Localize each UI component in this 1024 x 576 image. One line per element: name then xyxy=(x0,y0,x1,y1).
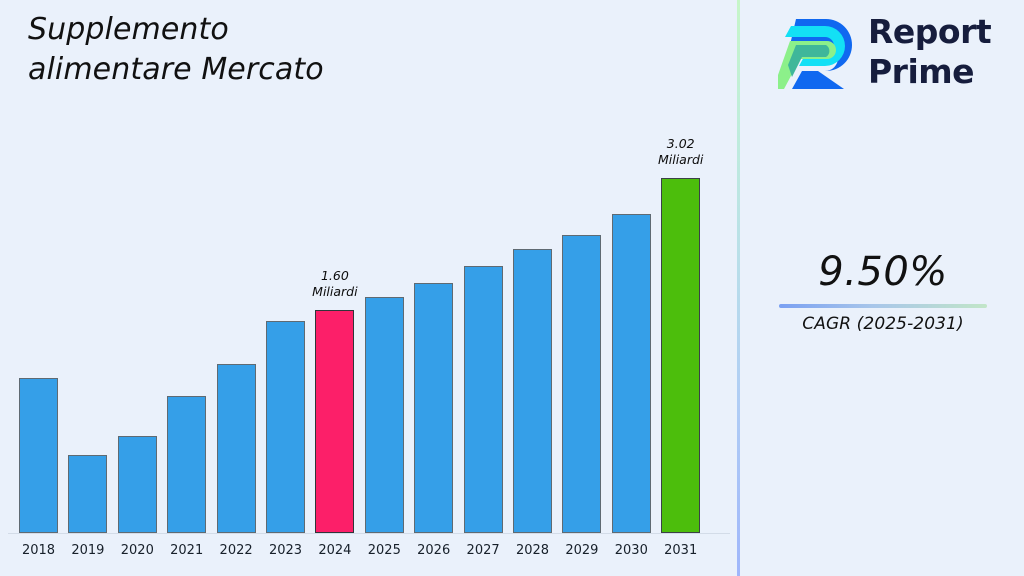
bar-rect-2027 xyxy=(464,266,503,533)
bar-rect-2022 xyxy=(217,364,256,533)
bar-rect-2021 xyxy=(167,396,206,533)
page-title: Supplemento alimentare Mercato xyxy=(28,10,448,90)
bar-rect-2025 xyxy=(365,297,404,533)
bar-rect-2026 xyxy=(414,283,453,533)
bar-2027 xyxy=(464,266,503,533)
bar-rect-2031 xyxy=(661,178,700,533)
bar-2031 xyxy=(661,178,700,533)
bar-2029 xyxy=(562,235,601,533)
bar-2026 xyxy=(414,283,453,533)
bar-rect-2023 xyxy=(266,321,305,533)
bar-2025 xyxy=(365,297,404,533)
bar-2018 xyxy=(19,378,58,533)
bar-2024 xyxy=(315,310,354,533)
cagr-value: 9.50% xyxy=(758,250,1008,294)
bar-value-label-2024: 1.60 Miliardi xyxy=(280,268,390,299)
bar-2021 xyxy=(167,396,206,533)
cagr-divider-rule xyxy=(779,304,987,308)
bar-rect-2018 xyxy=(19,378,58,533)
bar-2020 xyxy=(118,436,157,533)
bar-value-label-2031: 3.02 Miliardi xyxy=(626,136,736,167)
bar-rect-2028 xyxy=(513,249,552,533)
report-prime-logo: Report Prime xyxy=(778,12,1006,94)
report-prime-logo-mark-icon xyxy=(778,15,858,91)
bar-rect-2020 xyxy=(118,436,157,533)
bar-2022 xyxy=(217,364,256,533)
cagr-caption: CAGR (2025-2031) xyxy=(758,314,1008,334)
bar-rect-2030 xyxy=(612,214,651,533)
brand-panel: Report Prime 9.50% CAGR (2025-2031) xyxy=(740,0,1024,576)
bar-2023 xyxy=(266,321,305,533)
bar-2028 xyxy=(513,249,552,533)
infographic-page: Supplemento alimentare Mercato 201820192… xyxy=(0,0,1024,576)
x-tick-2031: 2031 xyxy=(651,543,711,558)
bar-2019 xyxy=(68,455,107,533)
cagr-block: 9.50% CAGR (2025-2031) xyxy=(758,250,1008,334)
chart-panel: Supplemento alimentare Mercato 201820192… xyxy=(0,0,739,576)
bar-rect-2029 xyxy=(562,235,601,533)
brand-name: Report Prime xyxy=(868,12,1008,93)
x-axis-line xyxy=(8,533,730,534)
bar-2030 xyxy=(612,214,651,533)
bar-rect-2019 xyxy=(68,455,107,533)
bar-rect-2024 xyxy=(315,310,354,533)
